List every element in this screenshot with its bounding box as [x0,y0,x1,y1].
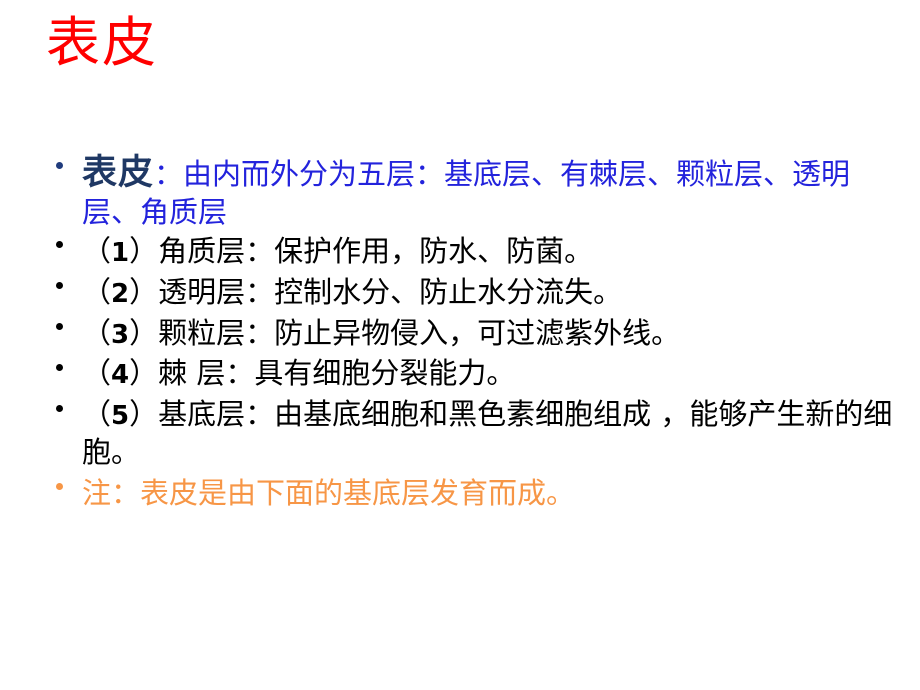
bullet-dot-icon [56,323,63,330]
list-item-text: （5）基底层：由基底细胞和黑色素细胞组成 ，能够产生新的细胞。 [82,396,904,471]
layer-number: 2 [111,279,129,309]
page-title: 表皮 [46,12,158,74]
note-text: 注：表皮是由下面的基底层发育而成。 [82,475,904,513]
bullet-dot-icon [56,162,63,169]
layer-description: 基底层：由基底细胞和黑色素细胞组成 ，能够产生新的细胞。 [82,397,892,469]
bullet-dot-icon [56,483,63,490]
layer-number: 4 [111,360,129,390]
list-item-layer-5: （5）基底层：由基底细胞和黑色素细胞组成 ，能够产生新的细胞。 [44,396,904,471]
layer-number: 5 [111,401,129,431]
slide-canvas: 表皮 表皮：由内而外分为五层：基底层、有棘层、颗粒层、透明层、角质层 （1）角质… [0,0,920,690]
bullet-dot-icon [56,405,63,412]
paren-close: ） [129,234,158,268]
list-item-intro: 表皮：由内而外分为五层：基底层、有棘层、颗粒层、透明层、角质层 [44,152,904,230]
list-item-note: 注：表皮是由下面的基底层发育而成。 [44,475,904,513]
list-item-text: （3）颗粒层：防止异物侵入，可过滤紫外线。 [82,315,904,353]
layer-number: 1 [111,238,129,268]
list-item-text: （4）棘 层：具有细胞分裂能力。 [82,355,904,393]
layer-description: 透明层：控制水分、防止水分流失。 [158,275,622,309]
content-bullet-list: 表皮：由内而外分为五层：基底层、有棘层、颗粒层、透明层、角质层 （1）角质层：保… [44,152,904,515]
layer-description: 角质层：保护作用，防水、防菌。 [158,234,593,268]
list-item-layer-2: （2）透明层：控制水分、防止水分流失。 [44,274,904,312]
list-item-layer-4: （4）棘 层：具有细胞分裂能力。 [44,355,904,393]
lead-rest: ：由内而外分为五层：基底层、有棘层、颗粒层、透明层、角质层 [82,157,850,229]
bullet-dot-icon [56,282,63,289]
paren-close: ） [129,397,158,431]
bullet-dot-icon [56,364,63,371]
lead-term: 表皮 [82,152,154,193]
paren-open: （ [82,316,111,350]
layer-number: 3 [111,320,129,350]
layer-description: 颗粒层：防止异物侵入，可过滤紫外线。 [158,316,680,350]
list-item-layer-3: （3）颗粒层：防止异物侵入，可过滤紫外线。 [44,315,904,353]
paren-close: ） [129,316,158,350]
paren-close: ） [129,275,158,309]
paren-open: （ [82,356,111,390]
bullet-dot-icon [56,241,63,248]
layer-description: 棘 层：具有细胞分裂能力。 [158,356,515,390]
paren-open: （ [82,397,111,431]
list-item-text: （1）角质层：保护作用，防水、防菌。 [82,233,904,271]
paren-close: ） [129,356,158,390]
paren-open: （ [82,234,111,268]
list-item-text: （2）透明层：控制水分、防止水分流失。 [82,274,904,312]
paren-open: （ [82,275,111,309]
list-item-text: 表皮：由内而外分为五层：基底层、有棘层、颗粒层、透明层、角质层 [82,152,904,230]
list-item-layer-1: （1）角质层：保护作用，防水、防菌。 [44,233,904,271]
